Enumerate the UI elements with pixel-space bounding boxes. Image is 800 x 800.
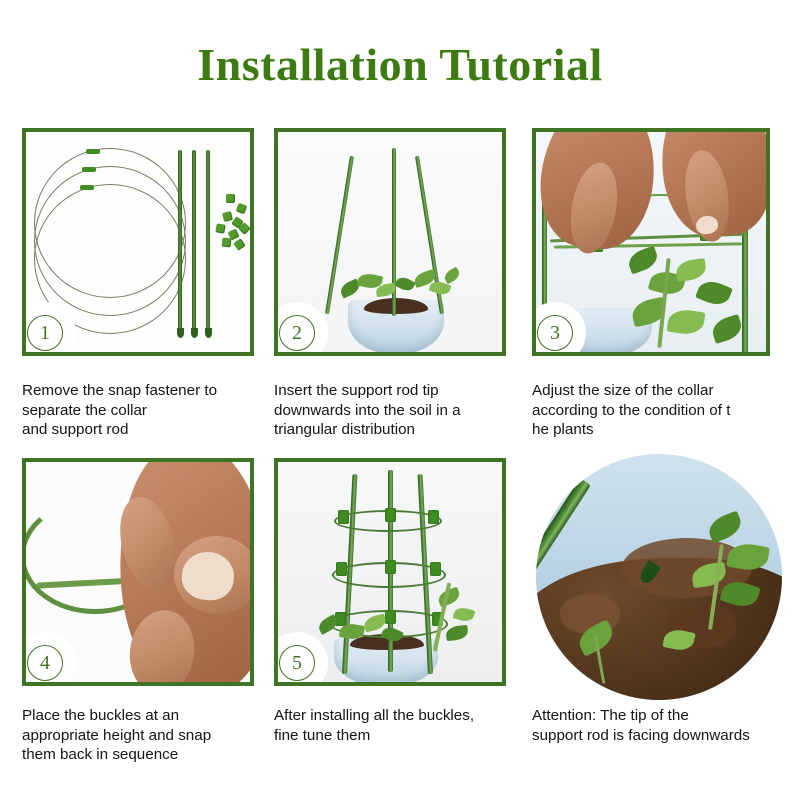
step-2-number: 2 — [279, 315, 315, 351]
step-2-caption-cell: Insert the support rod tip downwards int… — [274, 373, 532, 458]
step-3-caption-cell: Adjust the size of the collar according … — [532, 373, 790, 458]
step-3-number: 3 — [537, 315, 573, 351]
step-2-caption: Insert the support rod tip downwards int… — [274, 373, 518, 440]
step-5-caption-cell: After installing all the buckles, fine t… — [274, 698, 532, 778]
step-4-frame: 4 — [22, 458, 254, 686]
rod-tip-in-soil-photo — [536, 454, 782, 700]
step-5-number: 5 — [279, 645, 315, 681]
step-2-image-cell: 2 — [274, 128, 532, 373]
step-3-caption: Adjust the size of the collar according … — [532, 373, 776, 440]
step-1-number: 1 — [27, 315, 63, 351]
step-6-caption: Attention: The tip of the support rod is… — [532, 698, 776, 745]
rod-tip — [536, 478, 591, 579]
step-3-image-cell: 3 — [532, 128, 790, 373]
step-2-frame: 2 — [274, 128, 506, 356]
step-5-frame: 5 — [274, 458, 506, 686]
tutorial-page: Installation Tutorial — [0, 0, 800, 800]
step-1-caption: Remove the snap fastener to separate the… — [22, 373, 260, 440]
page-title: Installation Tutorial — [0, 38, 800, 91]
step-1-frame: 1 — [22, 128, 254, 356]
step-6-caption-cell: Attention: The tip of the support rod is… — [532, 698, 790, 778]
step-1-caption-cell: Remove the snap fastener to separate the… — [22, 373, 274, 458]
step-4-number: 4 — [27, 645, 63, 681]
step-5-image-cell: 5 — [274, 458, 532, 698]
step-6-image-cell — [532, 458, 790, 698]
step-1-image-cell: 1 — [22, 128, 274, 373]
step-4-caption: Place the buckles at an appropriate heig… — [22, 698, 260, 765]
steps-grid: 1 — [22, 128, 792, 778]
step-4-image-cell: 4 — [22, 458, 274, 698]
step-5-caption: After installing all the buckles, fine t… — [274, 698, 518, 745]
step-4-caption-cell: Place the buckles at an appropriate heig… — [22, 698, 274, 778]
step-3-frame: 3 — [532, 128, 770, 356]
